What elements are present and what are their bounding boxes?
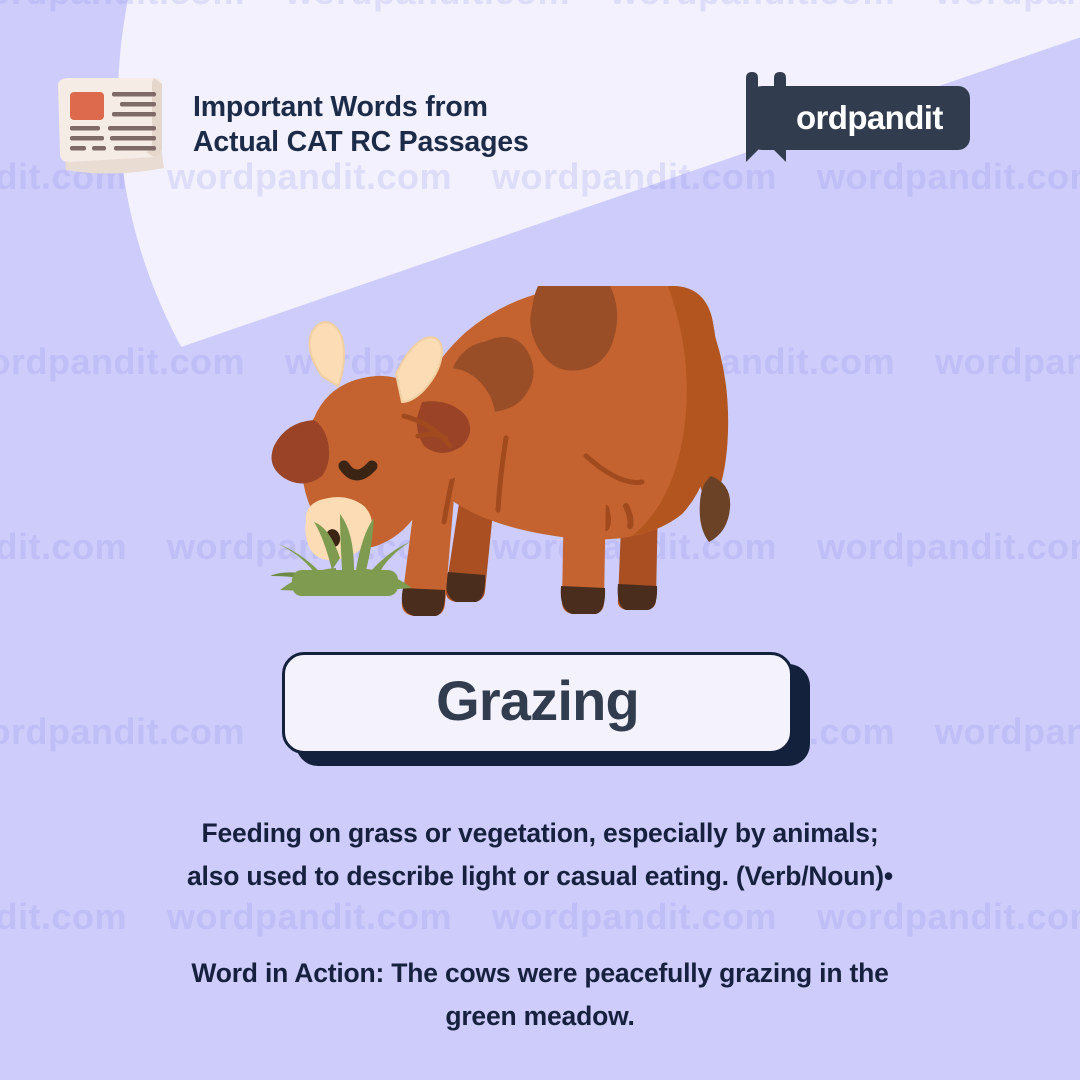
word-card-front: Grazing	[282, 652, 793, 754]
wordpandit-logo[interactable]: ordpandit	[750, 86, 970, 150]
poster-canvas: wordpandit.comwordpandit.comwordpandit.c…	[0, 0, 1080, 1080]
grazing-cow-illustration	[270, 270, 770, 670]
cow-hoof-front-near	[402, 588, 445, 616]
cow-ear-left	[272, 420, 330, 484]
word-card: Grazing	[282, 652, 802, 760]
bookmark-w-icon	[738, 72, 794, 164]
page-title-line1: Important Words from	[193, 90, 529, 125]
definition-line2: also used to describe light or casual ea…	[40, 855, 1040, 898]
vocabulary-word: Grazing	[436, 673, 639, 733]
page-title: Important Words from Actual CAT RC Passa…	[193, 90, 529, 160]
word-in-action-text: Word in Action: The cows were peacefully…	[40, 952, 1040, 1038]
cow-hoof-front-far	[446, 572, 485, 602]
page-title-line2: Actual CAT RC Passages	[193, 125, 529, 160]
word-in-action-line2: green meadow.	[40, 995, 1040, 1038]
definition-text: Feeding on grass or vegetation, especial…	[40, 812, 1040, 898]
cow-hoof-hind-near	[561, 586, 605, 614]
definition-line1: Feeding on grass or vegetation, especial…	[40, 812, 1040, 855]
cow-horn-left	[310, 322, 344, 386]
header: Important Words from Actual CAT RC Passa…	[0, 0, 1080, 190]
word-in-action-line1: Word in Action: The cows were peacefully…	[40, 952, 1040, 995]
newspaper-icon	[52, 70, 178, 178]
logo-text: ordpandit	[796, 99, 943, 137]
cow-hoof-hind-far	[618, 584, 657, 610]
